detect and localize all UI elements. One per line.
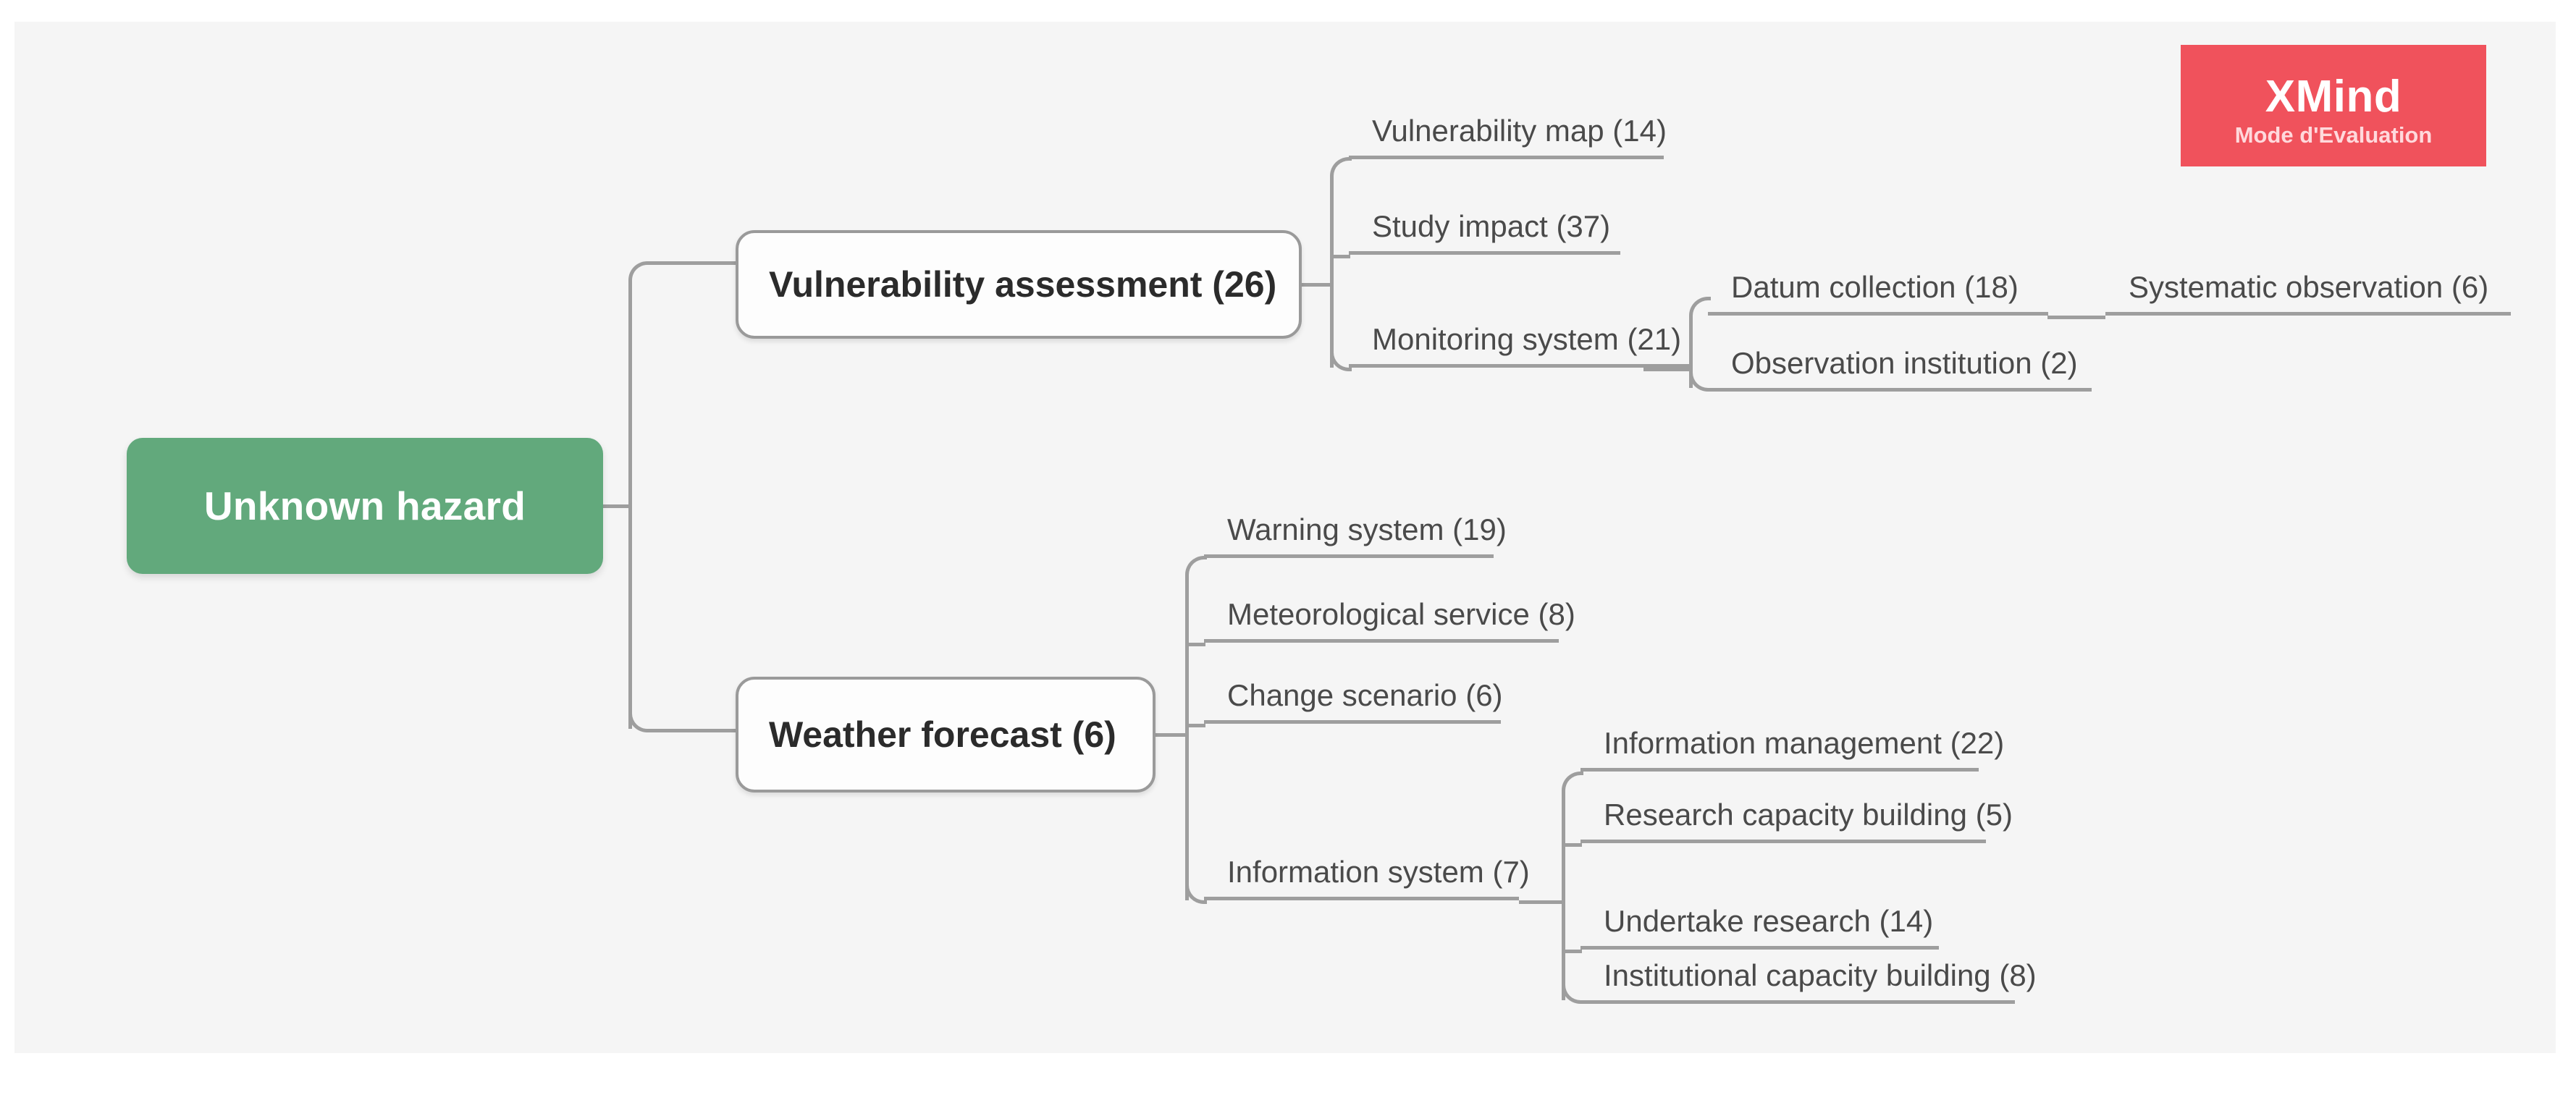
- node-label: Research capacity building (5): [1604, 798, 2013, 832]
- node-label: Meteorological service (8): [1227, 597, 1575, 632]
- connector-datum-to-sysobs: [2047, 316, 2105, 319]
- watermark-title: XMind: [2265, 73, 2402, 120]
- node-label: Information system (7): [1227, 855, 1530, 889]
- connector-to-undertake-research: [1562, 950, 1582, 953]
- connector-to-research-cap: [1562, 843, 1582, 847]
- node-label: Vulnerability assessment (26): [769, 263, 1276, 305]
- node-institutional-capacity-building[interactable]: Institutional capacity building (8): [1580, 953, 2015, 1004]
- node-label: Datum collection (18): [1731, 270, 2019, 305]
- node-label: Information management (22): [1604, 726, 2004, 761]
- connector-to-meteo: [1185, 643, 1205, 646]
- node-label: Study impact (37): [1372, 209, 1610, 244]
- node-systematic-observation[interactable]: Systematic observation (6): [2105, 265, 2511, 316]
- node-information-system[interactable]: Information system (7): [1204, 850, 1519, 900]
- node-vulnerability-assessment[interactable]: Vulnerability assessment (26): [736, 230, 1302, 339]
- watermark-subtitle: Mode d'Evaluation: [2235, 122, 2433, 148]
- connector-infosys-stub: [1519, 900, 1564, 904]
- mindmap-canvas[interactable]: Unknown hazard Vulnerability assessment …: [14, 22, 2556, 1053]
- node-study-impact[interactable]: Study impact (37): [1349, 204, 1620, 255]
- node-label: Undertake research (14): [1604, 904, 1933, 939]
- node-monitoring-system[interactable]: Monitoring system (21): [1349, 317, 1689, 368]
- node-label: Institutional capacity building (8): [1604, 958, 2037, 993]
- node-change-scenario[interactable]: Change scenario (6): [1204, 673, 1501, 724]
- node-information-management[interactable]: Information management (22): [1580, 721, 1979, 772]
- node-label: Observation institution (2): [1731, 346, 2078, 381]
- connector-monitor-stub: [1643, 368, 1691, 371]
- connector-to-change-scenario: [1185, 724, 1205, 727]
- node-label: Change scenario (6): [1227, 678, 1503, 713]
- node-datum-collection[interactable]: Datum collection (18): [1708, 265, 2048, 316]
- root-node-label: Unknown hazard: [204, 483, 526, 529]
- node-weather-forecast[interactable]: Weather forecast (6): [736, 677, 1156, 793]
- connector-to-vuln: [647, 261, 737, 265]
- node-undertake-research[interactable]: Undertake research (14): [1580, 899, 1939, 950]
- node-warning-system[interactable]: Warning system (19): [1204, 507, 1494, 558]
- node-label: Weather forecast (6): [769, 714, 1116, 756]
- node-label: Systematic observation (6): [2129, 270, 2488, 305]
- connector-elbow-infomgmt: [1562, 772, 1583, 793]
- connector-to-study-impact: [1330, 255, 1350, 258]
- root-node-unknown-hazard[interactable]: Unknown hazard: [127, 438, 603, 574]
- connector-weather-trunk: [1185, 575, 1189, 900]
- connector-vuln-trunk: [1330, 176, 1334, 368]
- node-vulnerability-map[interactable]: Vulnerability map (14): [1349, 109, 1664, 159]
- connector-root-trunk: [628, 280, 632, 729]
- connector-to-weather: [647, 729, 737, 732]
- node-label: Warning system (19): [1227, 512, 1507, 547]
- node-meteorological-service[interactable]: Meteorological service (8): [1204, 592, 1559, 643]
- connector-elbow-warning: [1185, 556, 1207, 578]
- connector-infosys-trunk: [1562, 790, 1565, 1000]
- node-observation-institution[interactable]: Observation institution (2): [1708, 341, 2092, 392]
- node-label: Monitoring system (21): [1372, 322, 1681, 357]
- connector-elbow-vmap: [1330, 157, 1352, 179]
- node-research-capacity-building[interactable]: Research capacity building (5): [1580, 793, 1986, 843]
- node-label: Vulnerability map (14): [1372, 114, 1667, 148]
- xmind-watermark-badge: XMind Mode d'Evaluation: [2181, 45, 2486, 166]
